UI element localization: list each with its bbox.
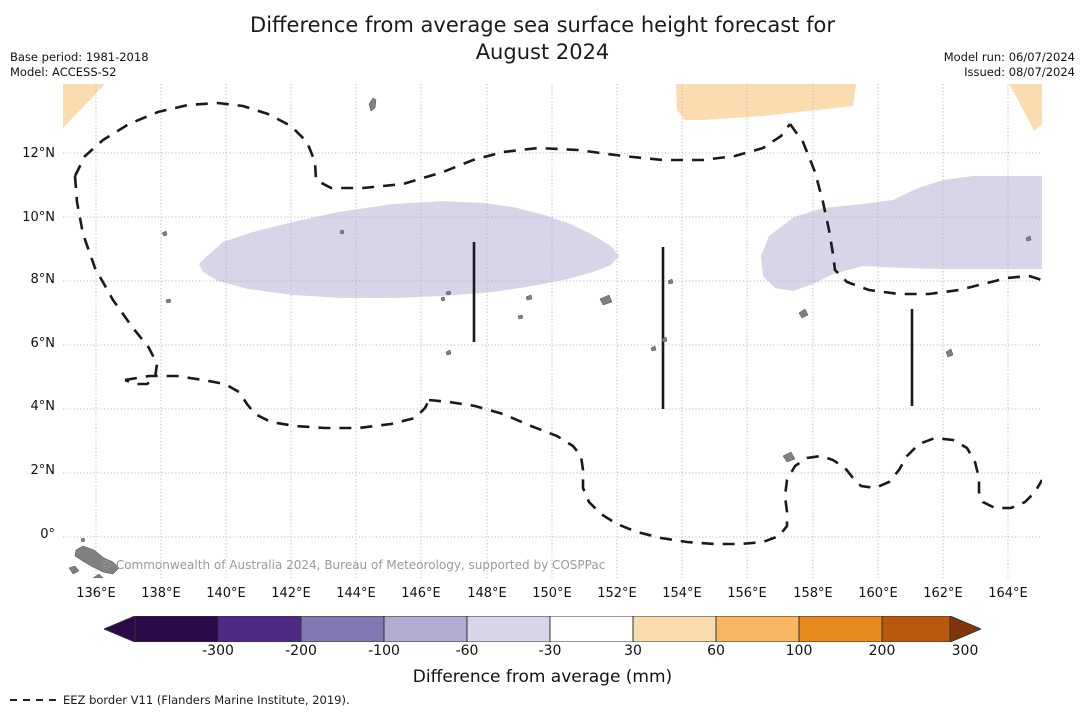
- eez-border-dashed: [75, 103, 1042, 544]
- metadata-right: Model run: 06/07/2024 Issued: 08/07/2024: [944, 50, 1075, 80]
- colorbar-extend-low: [104, 616, 135, 642]
- x-tick-label-156e: 156°E: [727, 586, 767, 601]
- x-tick-label-144e: 144°E: [336, 586, 376, 601]
- anomaly-region-east-negative: [761, 176, 1042, 291]
- x-tick-label-152e: 152°E: [597, 586, 637, 601]
- y-tick-label-8n: 8°N: [31, 272, 56, 287]
- colorbar-tick--30: -30: [539, 643, 562, 659]
- colorbar-seg-30-60: [550, 616, 633, 642]
- x-tick-label-154e: 154°E: [662, 586, 702, 601]
- x-tick-label-136e: 136°E: [76, 586, 116, 601]
- y-tick-label-0: 0°: [40, 527, 55, 542]
- colorbar-axis-label: Difference from average (mm): [0, 667, 1085, 687]
- y-tick-label-6n: 6°N: [31, 336, 56, 351]
- x-tick-label-158e: 158°E: [793, 586, 833, 601]
- colorbar: [104, 616, 981, 642]
- x-tick-label-146e: 146°E: [401, 586, 441, 601]
- y-tick-label-10n: 10°N: [22, 210, 55, 225]
- colorbar-seg--200--100: [218, 616, 301, 642]
- copyright-overlay: © Commonwealth of Australia 2024, Bureau…: [100, 558, 605, 572]
- colorbar-seg--60--30: [384, 616, 467, 642]
- land-islands: [69, 98, 1031, 578]
- anomaly-region-northeast-positive: [1009, 84, 1042, 131]
- x-tick-label-142e: 142°E: [271, 586, 311, 601]
- colorbar-tick-200: 200: [869, 643, 896, 659]
- colorbar-tick--60: -60: [456, 643, 479, 659]
- page-title: Difference from average sea surface heig…: [0, 12, 1085, 66]
- x-tick-label-160e: 160°E: [858, 586, 898, 601]
- metadata-left: Base period: 1981-2018 Model: ACCESS-S2: [10, 50, 149, 80]
- colorbar-seg--30-30: [467, 616, 550, 642]
- map-plot-area: [63, 84, 1042, 578]
- eez-dashed-line-icon: [10, 699, 56, 701]
- colorbar-tick-60: 60: [707, 643, 725, 659]
- x-tick-label-164e: 164°E: [988, 586, 1028, 601]
- map-canvas: [63, 84, 1042, 578]
- colorbar-extend-high: [950, 616, 981, 642]
- colorbar-tick--200: -200: [285, 643, 317, 659]
- y-tick-label-12n: 12°N: [22, 146, 55, 161]
- colorbar-tick--300: -300: [202, 643, 234, 659]
- anomaly-contour-regions: [63, 84, 1042, 298]
- issued-label: Issued: 08/07/2024: [944, 65, 1075, 80]
- anomaly-region-north-positive: [676, 84, 856, 120]
- model-run-label: Model run: 06/07/2024: [944, 50, 1075, 65]
- colorbar-seg-60-100: [633, 616, 716, 642]
- eez-legend-label: EEZ border V11 (Flanders Marine Institut…: [63, 693, 350, 707]
- y-tick-label-4n: 4°N: [31, 399, 56, 414]
- colorbar-tick-30: 30: [624, 643, 642, 659]
- map-gridlines: [63, 84, 1042, 578]
- colorbar-segments: [104, 616, 981, 642]
- x-tick-label-150e: 150°E: [532, 586, 572, 601]
- colorbar-seg-300-plus: [882, 616, 950, 642]
- colorbar-tick-100: 100: [786, 643, 813, 659]
- x-tick-label-138e: 138°E: [141, 586, 181, 601]
- colorbar-seg--100--60: [301, 616, 384, 642]
- x-tick-label-162e: 162°E: [923, 586, 963, 601]
- x-tick-label-148e: 148°E: [467, 586, 507, 601]
- anomaly-region-central-negative: [199, 201, 619, 298]
- colorbar-seg-200-300: [799, 616, 882, 642]
- colorbar-seg--300--200: [135, 616, 218, 642]
- colorbar-tick-300: 300: [952, 643, 979, 659]
- anomaly-region-northwest-positive: [63, 84, 105, 128]
- colorbar-tick--100: -100: [368, 643, 400, 659]
- footer-legend: EEZ border V11 (Flanders Marine Institut…: [10, 693, 350, 707]
- model-label: Model: ACCESS-S2: [10, 65, 149, 80]
- y-tick-label-2n: 2°N: [31, 463, 56, 478]
- base-period-label: Base period: 1981-2018: [10, 50, 149, 65]
- x-tick-label-140e: 140°E: [206, 586, 246, 601]
- colorbar-svg: [104, 616, 981, 642]
- colorbar-seg-100-200: [716, 616, 799, 642]
